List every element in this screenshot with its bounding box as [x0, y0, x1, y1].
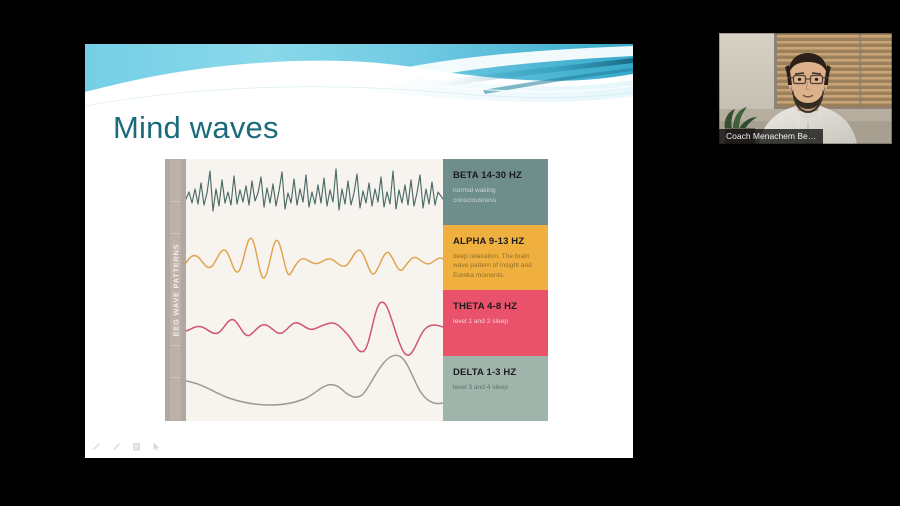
legend-title-delta: DELTA 1-3 HZ [453, 367, 539, 378]
rail-tick [171, 233, 180, 234]
slide-banner-decoration [85, 44, 633, 112]
legend-title-beta: BETA 14-30 HZ [453, 170, 539, 181]
rail-tick [171, 345, 180, 346]
eeg-wave-plot [186, 159, 443, 421]
legend-block-beta[interactable]: BETA 14-30 HZ normal waking consciousnes… [443, 159, 548, 225]
legend-title-theta: THETA 4-8 HZ [453, 301, 539, 312]
page-title: Mind waves [113, 110, 279, 146]
pointer-icon[interactable] [151, 441, 162, 452]
legend-desc-theta: level 1 and 2 sleep [453, 317, 539, 327]
eeg-legend: BETA 14-30 HZ normal waking consciousnes… [443, 159, 548, 421]
participant-video-tile[interactable]: Coach Menachem Be… [719, 33, 892, 144]
notes-icon[interactable] [131, 441, 142, 452]
participant-name-label: Coach Menachem Be… [719, 129, 823, 144]
eeg-rail-label: EEG WAVE PATTERNS [171, 244, 180, 337]
video-frame [719, 33, 892, 144]
rail-tick [171, 377, 180, 378]
legend-title-alpha: ALPHA 9-13 HZ [453, 236, 539, 247]
rail-tick [171, 201, 180, 202]
pen-icon[interactable] [91, 441, 102, 452]
highlighter-icon[interactable] [111, 441, 122, 452]
legend-block-alpha[interactable]: ALPHA 9-13 HZ deep relaxation. The brain… [443, 225, 548, 291]
meeting-stage: Mind waves EEG WAVE PATTERNS [0, 0, 900, 506]
legend-desc-delta: level 3 and 4 sleep [453, 383, 539, 393]
legend-block-delta[interactable]: DELTA 1-3 HZ level 3 and 4 sleep [443, 356, 548, 422]
eeg-rail: EEG WAVE PATTERNS [165, 159, 186, 421]
eeg-infographic: EEG WAVE PATTERNS [165, 159, 548, 421]
shared-slide[interactable]: Mind waves EEG WAVE PATTERNS [85, 44, 633, 458]
legend-desc-beta: normal waking consciousness [453, 186, 539, 205]
legend-block-theta[interactable]: THETA 4-8 HZ level 1 and 2 sleep [443, 290, 548, 356]
legend-desc-alpha: deep relaxation. The brain wave pattern … [453, 252, 539, 281]
slide-annotation-toolbar[interactable] [91, 441, 162, 452]
